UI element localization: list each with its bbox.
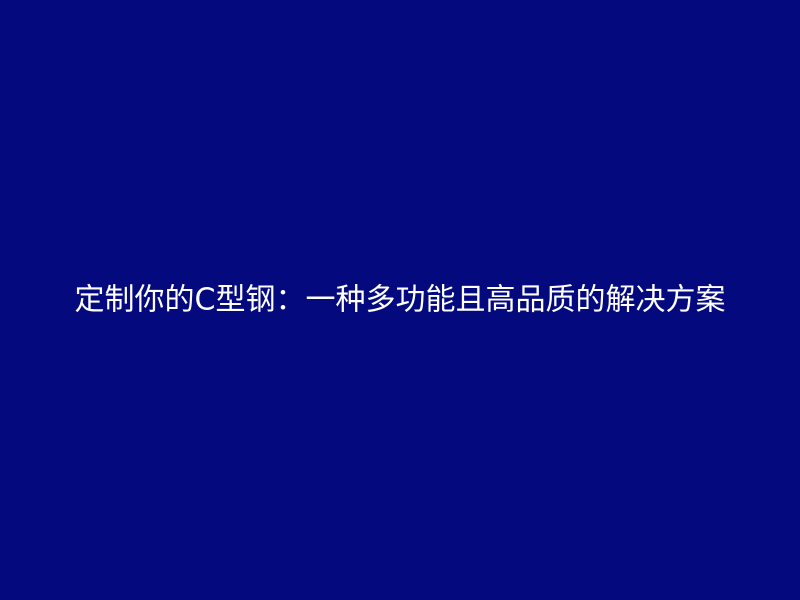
headline-text: 定制你的C型钢：一种多功能且高品质的解决方案 bbox=[0, 284, 800, 317]
banner-slide: 定制你的C型钢：一种多功能且高品质的解决方案 bbox=[0, 0, 800, 600]
